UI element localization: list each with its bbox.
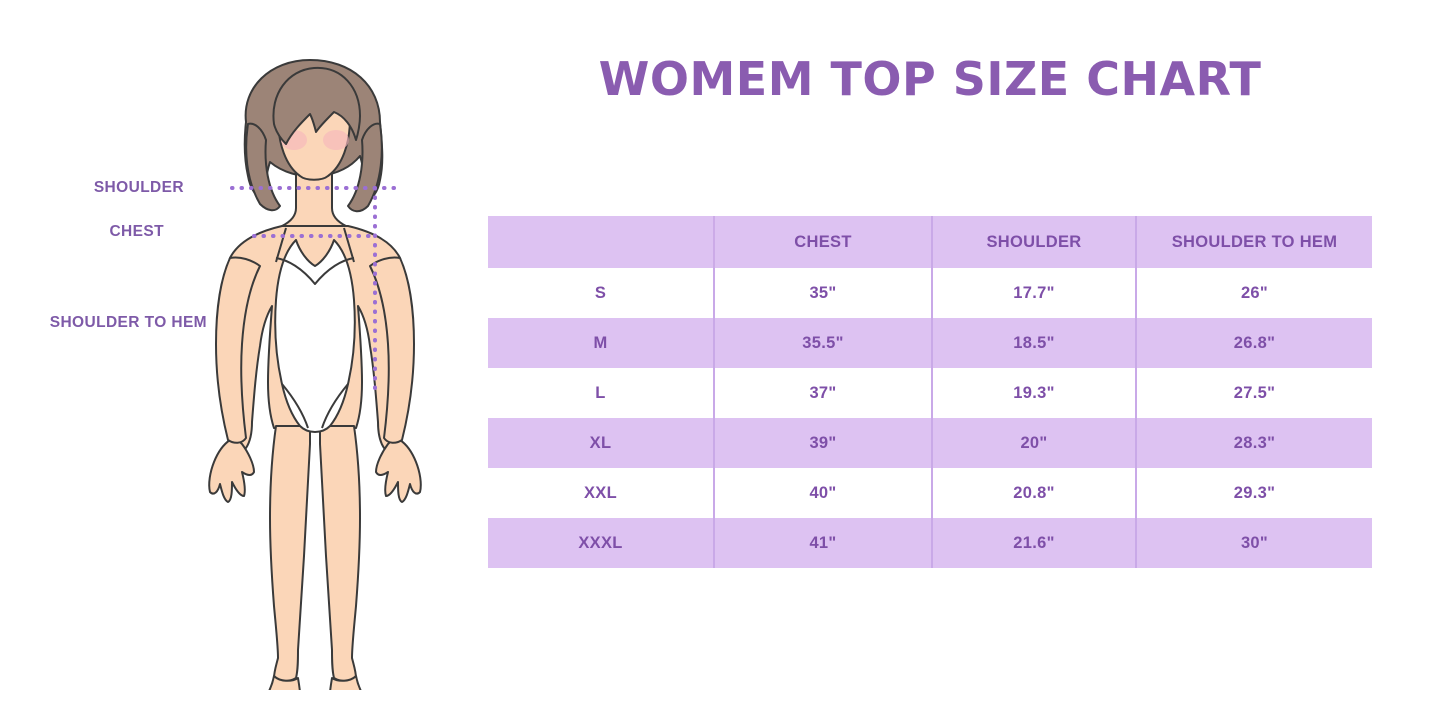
figure-group xyxy=(209,60,421,690)
cell-chest: 35" xyxy=(714,268,932,318)
blush-right xyxy=(323,130,349,150)
table-row: M 35.5" 18.5" 26.8" xyxy=(488,318,1372,368)
cell-size: S xyxy=(488,268,714,318)
cell-size: XL xyxy=(488,418,714,468)
cell-shoulder: 20.8" xyxy=(932,468,1136,518)
cell-chest: 41" xyxy=(714,518,932,568)
cell-shoulder-to-hem: 28.3" xyxy=(1136,418,1372,468)
cell-size: XXXL xyxy=(488,518,714,568)
cell-shoulder: 20" xyxy=(932,418,1136,468)
cell-chest: 35.5" xyxy=(714,318,932,368)
cell-shoulder-to-hem: 26" xyxy=(1136,268,1372,318)
right-hand-shape xyxy=(376,439,421,502)
cell-shoulder: 19.3" xyxy=(932,368,1136,418)
column-header-shoulder-to-hem: SHOULDER TO HEM xyxy=(1136,216,1372,268)
female-body-figure-illustration xyxy=(150,40,480,690)
swimsuit-shape xyxy=(275,240,355,432)
column-header-shoulder: SHOULDER xyxy=(932,216,1136,268)
cell-shoulder: 17.7" xyxy=(932,268,1136,318)
left-hand-shape xyxy=(209,439,254,502)
size-chart-table: CHEST SHOULDER SHOULDER TO HEM S 35" 17.… xyxy=(488,216,1372,568)
left-leg-shape xyxy=(270,426,310,681)
cell-chest: 39" xyxy=(714,418,932,468)
column-header-chest: CHEST xyxy=(714,216,932,268)
cell-shoulder: 21.6" xyxy=(932,518,1136,568)
cell-size: L xyxy=(488,368,714,418)
table-header-row: CHEST SHOULDER SHOULDER TO HEM xyxy=(488,216,1372,268)
cell-shoulder-to-hem: 27.5" xyxy=(1136,368,1372,418)
table-row: S 35" 17.7" 26" xyxy=(488,268,1372,318)
cell-shoulder-to-hem: 30" xyxy=(1136,518,1372,568)
cell-shoulder: 18.5" xyxy=(932,318,1136,368)
cell-chest: 40" xyxy=(714,468,932,518)
table-row: XXL 40" 20.8" 29.3" xyxy=(488,468,1372,518)
page-title: WOMEM TOP SIZE CHART xyxy=(470,52,1390,106)
table-row: XL 39" 20" 28.3" xyxy=(488,418,1372,468)
table-row: XXXL 41" 21.6" 30" xyxy=(488,518,1372,568)
measurement-label-chest: CHEST xyxy=(0,223,164,241)
table-row: L 37" 19.3" 27.5" xyxy=(488,368,1372,418)
column-header-size xyxy=(488,216,714,268)
right-leg-shape xyxy=(320,426,360,681)
cell-size: M xyxy=(488,318,714,368)
cell-shoulder-to-hem: 26.8" xyxy=(1136,318,1372,368)
cell-shoulder-to-hem: 29.3" xyxy=(1136,468,1372,518)
cell-size: XXL xyxy=(488,468,714,518)
cell-chest: 37" xyxy=(714,368,932,418)
